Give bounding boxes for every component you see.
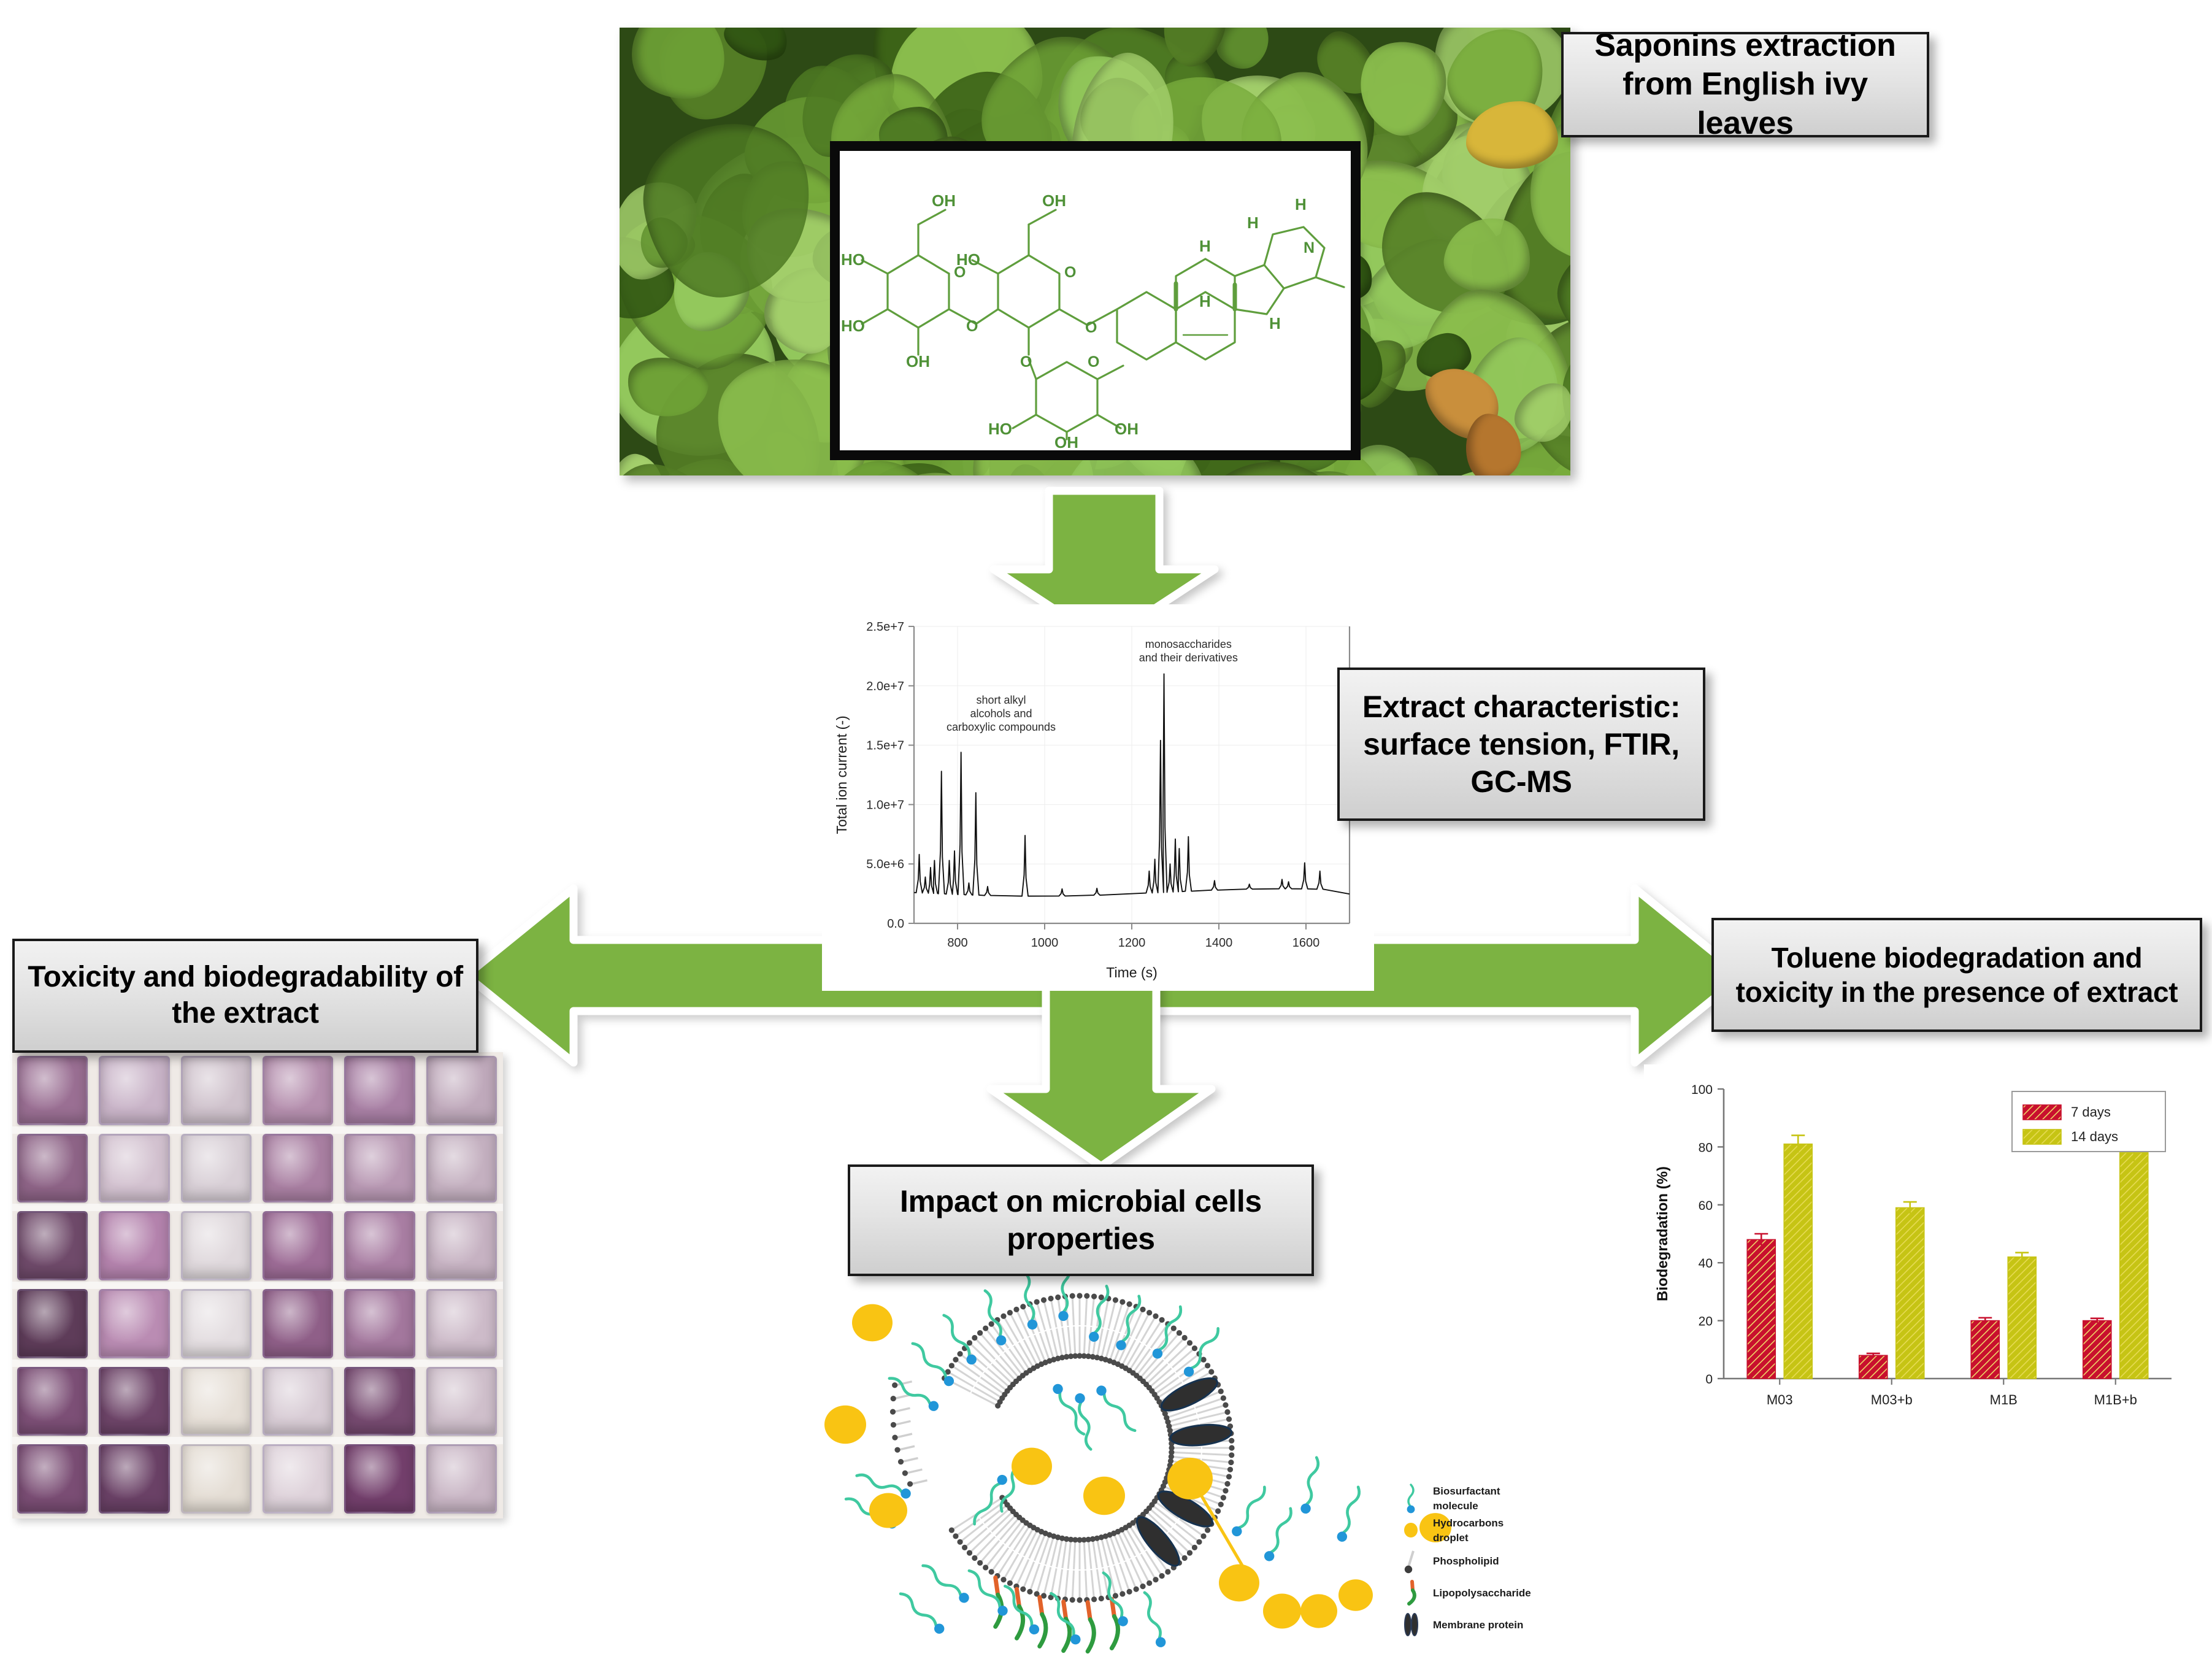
- gcms-y-tick-label: 5.0e+6: [866, 858, 904, 871]
- phospholipid-tail: [1058, 1569, 1062, 1599]
- phospholipid-head: [1226, 1474, 1232, 1479]
- bar-M03+b-7-days: [1859, 1355, 1887, 1379]
- legend-item-lps-icon: Lipopolysaccharide: [1409, 1582, 1531, 1604]
- phospholipid-head: [1000, 1314, 1006, 1319]
- hydrocarbon-droplet: [869, 1493, 907, 1528]
- microplate-well: [181, 1056, 252, 1125]
- bar-y-tick-label: 40: [1699, 1256, 1713, 1271]
- gcms-y-axis-label: Total ion current (-): [834, 715, 850, 834]
- phospholipid-head: [949, 1363, 954, 1368]
- gcms-x-axis-label: Time (s): [1106, 964, 1157, 980]
- hydrocarbon-droplet: [1167, 1458, 1213, 1499]
- saponin-structure-canvas: OH OH HO HO HO OH O O O O O O HO OH: [840, 151, 1351, 450]
- gcms-annotation-1: and their derivatives: [1139, 652, 1238, 664]
- phospholipid-head: [1134, 1587, 1139, 1592]
- phospholipid-head: [967, 1550, 972, 1556]
- phospholipid-head: [1165, 1569, 1170, 1574]
- bar-y-tick-label: 0: [1705, 1372, 1713, 1387]
- gcms-y-tick-label: 1.0e+7: [866, 798, 904, 812]
- phospholipid-tail: [1156, 1328, 1174, 1352]
- phospholipid-tail: [1172, 1528, 1194, 1547]
- legend-item-phospholipid-icon: Phospholipid: [1405, 1551, 1499, 1573]
- biosurfactant-molecule: [897, 1590, 947, 1636]
- plate-ridge: [12, 1282, 503, 1289]
- lipopolysaccharide: [1088, 1603, 1094, 1652]
- phospholipid-tail: [1086, 1571, 1087, 1600]
- phospholipid-head: [1070, 1293, 1075, 1299]
- phospholipid-head: [1119, 1591, 1125, 1596]
- phospholipid-tail: [1146, 1320, 1162, 1344]
- phospholipid-head: [1187, 1550, 1192, 1556]
- hydrocarbon-droplet: [1263, 1593, 1301, 1628]
- phospholipid-tail: [991, 1548, 1008, 1572]
- phospholipid-head: [1229, 1438, 1234, 1444]
- phospholipid-tail: [1084, 1326, 1085, 1356]
- biosurfactant-molecule: [1300, 1456, 1321, 1515]
- gcms-annotation-0: carboxylic compounds: [947, 721, 1056, 733]
- biosurfactant-molecule: [920, 1562, 971, 1605]
- microplate-well: [426, 1134, 497, 1203]
- legend-label: Membrane protein: [1433, 1619, 1523, 1631]
- microplate-well: [426, 1289, 497, 1358]
- phospholipid-head: [1221, 1495, 1226, 1501]
- phospholipid-tail: [1091, 1296, 1094, 1326]
- svg-text:HO: HO: [841, 317, 865, 335]
- disrupted-phospholipid: [894, 1395, 910, 1399]
- phospholipid-tail: [1074, 1326, 1075, 1356]
- legend-label: 14 days: [2071, 1129, 2118, 1144]
- svg-text:H: H: [1247, 214, 1259, 232]
- gcms-x-tick-label: 1200: [1118, 936, 1146, 950]
- phospholipid-head: [1229, 1445, 1234, 1450]
- bar-M03-7-days: [1747, 1239, 1775, 1379]
- phospholipid-head: [1013, 1307, 1019, 1312]
- phospholipid-head: [1055, 1295, 1061, 1300]
- phospholipid-head: [1224, 1481, 1230, 1487]
- microplate-well: [17, 1056, 88, 1125]
- membrane-diagram-svg: BiosurfactantmoleculeHydrocarbonsdroplet…: [816, 1264, 1570, 1669]
- phospholipid-tail: [1068, 1539, 1071, 1569]
- svg-text:OH: OH: [1054, 433, 1078, 450]
- microplate-well: [344, 1367, 415, 1436]
- phospholipid-tail: [1141, 1554, 1156, 1580]
- phospholipid-tail: [1062, 1539, 1067, 1568]
- phospholipid-head: [1020, 1304, 1026, 1309]
- phospholipid-head: [977, 1560, 983, 1566]
- gcms-annotation-0: alcohols and: [970, 707, 1032, 720]
- microplate-well: [263, 1056, 333, 1125]
- microplate-well: [99, 1211, 169, 1280]
- legend-item-membrane-protein-icon: Membrane protein: [1405, 1614, 1523, 1636]
- microplate-well: [344, 1056, 415, 1125]
- phospholipid-head: [1205, 1527, 1210, 1533]
- phospholipid-tail: [1202, 1454, 1232, 1455]
- plate-ridge: [12, 1437, 503, 1444]
- svg-text:H: H: [1199, 237, 1211, 255]
- phospholipid-tail: [1176, 1524, 1199, 1542]
- bar-y-tick-label: 20: [1699, 1315, 1713, 1329]
- phospholipid-head: [1077, 1597, 1082, 1603]
- phospholipid-head: [1000, 1577, 1006, 1582]
- phospholipid-tail: [986, 1544, 1004, 1568]
- phospholipid-head: [1196, 1539, 1202, 1545]
- phospholipid-tail: [1086, 1296, 1087, 1325]
- biosurfactant-molecule: [1262, 1506, 1295, 1563]
- phospholipid-head: [1200, 1533, 1206, 1539]
- biosurfactant-molecule: [887, 1374, 941, 1413]
- phospholipid-tail: [1172, 1349, 1194, 1368]
- toxicity-biodegradability-text: Toxicity and biodegradability of the ext…: [25, 960, 466, 1031]
- saponin-structure-svg: OH OH HO HO HO OH O O O O O O HO OH: [840, 151, 1351, 450]
- phospholipid-tail: [1172, 1452, 1201, 1453]
- biodegradation-bar-svg: 020406080100Biodegradation (%)M03M03+bM1…: [1644, 1064, 2184, 1445]
- phospholipid-tail: [1202, 1460, 1231, 1463]
- phospholipid-head: [1084, 1293, 1089, 1299]
- phospholipid-head: [1127, 1301, 1132, 1307]
- svg-text:HO: HO: [988, 420, 1012, 438]
- phospholipid-tail: [1160, 1333, 1179, 1355]
- phospholipid-head: [1119, 1299, 1125, 1304]
- bar-y-axis-label: Biodegradation (%): [1654, 1166, 1671, 1301]
- bar-category-label: M03: [1767, 1392, 1793, 1407]
- microplate-well: [17, 1134, 88, 1203]
- phospholipid-head: [962, 1545, 967, 1550]
- phospholipid-head: [1215, 1508, 1221, 1514]
- hydrocarbon-droplet: [1012, 1448, 1052, 1485]
- phospholipid-head: [1218, 1502, 1224, 1507]
- disrupted-phospholipid: [896, 1434, 912, 1437]
- phospholipid-head: [1007, 1580, 1013, 1586]
- phospholipid-tail: [951, 1514, 976, 1530]
- svg-text:O: O: [1085, 319, 1097, 336]
- disrupted-phospholipid-head: [890, 1409, 896, 1415]
- phospholipid-head: [957, 1351, 962, 1356]
- phospholipid-tail: [1074, 1540, 1075, 1569]
- microplate-well: [263, 1444, 333, 1514]
- phospholipid-tail: [1072, 1571, 1073, 1600]
- phospholipid-tail: [975, 1338, 995, 1360]
- svg-text:O: O: [1064, 264, 1076, 281]
- microplate-well: [99, 1134, 169, 1203]
- biosurfactant-molecule: [1051, 1382, 1088, 1437]
- bar-category-label: M03+b: [1871, 1392, 1913, 1407]
- microplate-well: [17, 1367, 88, 1436]
- phospholipid-head: [977, 1330, 983, 1336]
- phospholipid-tail: [1136, 1557, 1150, 1583]
- microtiter-plate-photo: [12, 1052, 503, 1518]
- phospholipid-head: [1208, 1369, 1214, 1374]
- disrupted-phospholipid-head: [891, 1396, 896, 1401]
- phospholipid-head: [989, 1569, 994, 1574]
- microplate-well: [263, 1134, 333, 1203]
- phospholipid-head: [1218, 1388, 1224, 1394]
- disrupted-phospholipid: [894, 1408, 910, 1412]
- lipopolysaccharide: [1112, 1599, 1118, 1648]
- impact-microbial-cells-callout: Impact on microbial cells properties: [848, 1164, 1314, 1276]
- phospholipid-head: [1041, 1297, 1046, 1303]
- microplate-well: [181, 1444, 252, 1514]
- phospholipid-head: [1153, 1577, 1158, 1582]
- svg-text:H: H: [1199, 292, 1211, 310]
- svg-text:OH: OH: [906, 352, 930, 371]
- phospholipid-head: [1223, 1403, 1228, 1408]
- phospholipid-tail: [1010, 1557, 1023, 1583]
- phospholipid-head: [972, 1335, 977, 1341]
- phospholipid-head: [1020, 1587, 1026, 1592]
- phospholipid-tail: [1010, 1313, 1023, 1339]
- phospholipid-tail: [997, 1551, 1013, 1576]
- phospholipid-tail: [1088, 1327, 1091, 1356]
- phospholipid-head: [1091, 1596, 1097, 1602]
- hydrocarbon-droplet: [852, 1304, 893, 1342]
- gcms-y-tick-label: 1.5e+7: [866, 739, 904, 753]
- hydrocarbon-droplet: [1338, 1579, 1373, 1611]
- plate-ridge: [12, 1204, 503, 1211]
- gcms-chromatogram: 0.05.0e+61.0e+71.5e+72.0e+72.5e+78001000…: [822, 604, 1374, 991]
- plate-ridge: [12, 1126, 503, 1134]
- microplate-well: [181, 1134, 252, 1203]
- microplate-well: [426, 1367, 497, 1436]
- phospholipid-head: [1127, 1589, 1132, 1595]
- microplate-well: [344, 1444, 415, 1514]
- biosurfactant-molecule: [1074, 1392, 1096, 1450]
- bar-y-tick-label: 100: [1691, 1083, 1713, 1097]
- phospholipid-head: [953, 1533, 958, 1539]
- microplate-well: [99, 1056, 169, 1125]
- phospholipid-tail: [1016, 1560, 1029, 1587]
- phospholipid-head: [1007, 1310, 1013, 1315]
- phospholipid-tail: [1091, 1570, 1094, 1599]
- bar-y-tick-label: 80: [1699, 1141, 1713, 1155]
- microplate-well: [263, 1367, 333, 1436]
- phospholipid-head: [983, 1325, 988, 1331]
- phospholipid-head: [1140, 1583, 1145, 1589]
- extract-characteristic-callout: Extract characteristic: surface tension,…: [1337, 668, 1705, 821]
- gcms-y-tick-label: 0.0: [887, 917, 904, 931]
- legend-swatch: [2023, 1129, 2061, 1144]
- bar-category-label: M1B: [1990, 1392, 2018, 1407]
- bar-y-tick-label: 60: [1699, 1199, 1713, 1213]
- disrupted-phospholipid: [912, 1480, 927, 1484]
- phospholipid-tail: [1199, 1412, 1227, 1419]
- bar-M1B-7-days: [1971, 1321, 1999, 1379]
- microbial-cell-membrane-diagram: BiosurfactantmoleculeHydrocarbonsdroplet…: [816, 1264, 1570, 1669]
- phospholipid-head: [1205, 1363, 1210, 1368]
- svg-text:O: O: [1088, 353, 1099, 371]
- microplate-well: [344, 1289, 415, 1358]
- bar-M03+b-14-days: [1896, 1208, 1924, 1379]
- disrupted-phospholipid: [894, 1421, 910, 1425]
- microplate-well: [344, 1134, 415, 1203]
- disrupted-phospholipid: [906, 1469, 922, 1473]
- microplate-well: [263, 1289, 333, 1358]
- disrupted-phospholipid-head: [898, 1459, 904, 1464]
- phospholipid-head: [1229, 1452, 1234, 1458]
- legend-item-droplet-icon: Hydrocarbonsdroplet: [1404, 1517, 1503, 1544]
- microplate-well: [99, 1289, 169, 1358]
- biosurfactant-molecule: [1140, 1591, 1167, 1649]
- microplate-well: [426, 1444, 497, 1514]
- legend-label: Phospholipid: [1433, 1555, 1499, 1567]
- disrupted-phospholipid-head: [907, 1481, 913, 1487]
- biosurfactant-molecule: [1094, 1383, 1139, 1434]
- gcms-x-tick-label: 1400: [1205, 936, 1233, 950]
- phospholipid-tail: [960, 1524, 983, 1542]
- legend-label: 7 days: [2071, 1104, 2111, 1120]
- phospholipid-head: [1091, 1294, 1097, 1299]
- legend-label: Biosurfactant: [1433, 1485, 1500, 1497]
- microplate-well: [17, 1444, 88, 1514]
- svg-text:H: H: [1295, 195, 1307, 214]
- hydrocarbon-droplet: [824, 1406, 866, 1444]
- phospholipid-tail: [1044, 1567, 1051, 1596]
- hydrocarbon-droplet: [1219, 1564, 1259, 1602]
- extract-characteristic-text: Extract characteristic: surface tension,…: [1350, 688, 1693, 801]
- toluene-biodegradation-barchart: 020406080100Biodegradation (%)M03M03+bM1…: [1644, 1064, 2184, 1445]
- svg-text:OH: OH: [1115, 420, 1139, 438]
- microplate-well: [99, 1367, 169, 1436]
- legend-label: droplet: [1433, 1532, 1469, 1544]
- phospholipid-tail: [1065, 1570, 1068, 1599]
- biosurfactant-molecule: [1230, 1485, 1269, 1539]
- phospholipid-tail: [1044, 1300, 1051, 1329]
- gcms-annotation-1: monosaccharides: [1145, 638, 1232, 650]
- biosurfactant-molecule: [966, 1568, 1010, 1618]
- phospholipid-tail: [1072, 1296, 1073, 1325]
- phospholipid-head: [1221, 1395, 1226, 1401]
- phospholipid-head: [1182, 1555, 1188, 1561]
- toluene-biodegradation-text: Toluene biodegradation and toxicity in t…: [1724, 941, 2190, 1009]
- phospholipid-tail: [1016, 1309, 1029, 1336]
- phospholipid-head: [1099, 1596, 1104, 1601]
- phospholipid-tail: [1062, 1328, 1067, 1357]
- disrupted-phospholipid-head: [894, 1447, 900, 1453]
- microplate-well: [263, 1211, 333, 1280]
- svg-text:O: O: [954, 264, 966, 281]
- phospholipid-head: [1227, 1467, 1233, 1472]
- microplate-well: [344, 1211, 415, 1280]
- hydrocarbon-droplet: [1083, 1477, 1125, 1515]
- phospholipid-tail: [1141, 1316, 1156, 1342]
- svg-text:OH: OH: [1042, 191, 1066, 210]
- phospholipid-head: [1027, 1589, 1032, 1595]
- phospholipid-tail: [1131, 1560, 1143, 1587]
- phospholipid-tail: [1103, 1298, 1108, 1327]
- phospholipid-head: [1192, 1345, 1197, 1351]
- phospholipid-head: [1159, 1317, 1164, 1323]
- lipopolysaccharide: [1040, 1597, 1046, 1646]
- phospholipid-head: [957, 1539, 962, 1545]
- gcms-y-tick-label: 2.0e+7: [866, 680, 904, 693]
- microplate-well: [181, 1289, 252, 1358]
- phospholipid-tail: [1136, 1313, 1150, 1339]
- disrupted-phospholipid-head: [892, 1382, 897, 1388]
- phospholipid-tail: [975, 1537, 995, 1558]
- phospholipid-head: [1077, 1293, 1082, 1298]
- bar-M1B-14-days: [2008, 1257, 2036, 1379]
- svg-text:OH: OH: [932, 191, 956, 210]
- phospholipid-tail: [1051, 1298, 1056, 1327]
- phospholipid-head: [1146, 1310, 1152, 1315]
- legend-label: Lipopolysaccharide: [1433, 1587, 1531, 1599]
- svg-text:O: O: [1020, 353, 1032, 371]
- phospholipid-tail: [1097, 1569, 1101, 1599]
- saponins-extraction-text: Saponins extraction from English ivy lea…: [1573, 26, 1917, 143]
- phospholipid-head: [1223, 1488, 1228, 1493]
- biosurfactant-molecule: [1336, 1485, 1363, 1543]
- toxicity-biodegradability-callout: Toxicity and biodegradability of the ext…: [12, 939, 478, 1053]
- phospholipid-head: [972, 1555, 977, 1561]
- phospholipid-head: [1159, 1573, 1164, 1579]
- svg-text:N: N: [1304, 239, 1315, 256]
- legend-item-surfactant-icon: Biosurfactantmolecule: [1407, 1485, 1500, 1513]
- phospholipid-tail: [980, 1541, 999, 1563]
- phospholipid-tail: [1088, 1539, 1091, 1569]
- impact-microbial-cells-text: Impact on microbial cells properties: [860, 1183, 1302, 1258]
- phospholipid-head: [1224, 1409, 1230, 1415]
- phospholipid-tail: [1114, 1533, 1125, 1561]
- phospholipid-tail: [965, 1528, 987, 1547]
- disrupted-phospholipid-head: [891, 1422, 896, 1428]
- phospholipid-tail: [1034, 1335, 1045, 1363]
- phospholipid-head: [1182, 1335, 1188, 1341]
- saponins-extraction-callout: Saponins extraction from English ivy lea…: [1561, 32, 1929, 137]
- microplate-well: [426, 1211, 497, 1280]
- disrupted-phospholipid-head: [892, 1434, 897, 1440]
- phospholipid-head: [1113, 1297, 1118, 1303]
- phospholipid-head: [1177, 1330, 1182, 1336]
- phospholipid-tail: [951, 1366, 976, 1382]
- phospholipid-head: [983, 1564, 988, 1570]
- phospholipid-tail: [1034, 1533, 1045, 1561]
- legend-swatch: [2023, 1105, 2061, 1120]
- legend-label: Hydrocarbons: [1433, 1517, 1503, 1529]
- lipopolysaccharide: [1064, 1602, 1070, 1651]
- phospholipid-tail: [1169, 1343, 1190, 1363]
- phospholipid-head: [1228, 1460, 1234, 1465]
- phospholipid-head: [1034, 1299, 1040, 1304]
- bar-M1B+b-7-days: [2083, 1321, 2111, 1379]
- phospholipid-tail: [1200, 1419, 1229, 1425]
- phospholipid-head: [1171, 1325, 1177, 1331]
- toluene-biodegradation-callout: Toluene biodegradation and toxicity in t…: [1711, 918, 2202, 1032]
- bar-category-label: M1B+b: [2094, 1392, 2137, 1407]
- disrupted-phospholipid-head: [902, 1471, 908, 1476]
- phospholipid-head: [1048, 1296, 1053, 1301]
- disrupted-phospholipid: [899, 1446, 915, 1450]
- svg-text:O: O: [966, 318, 978, 335]
- disrupted-phospholipid: [902, 1458, 918, 1462]
- phospholipid-head: [1140, 1307, 1145, 1312]
- microplate-well: [17, 1211, 88, 1280]
- phospholipid-head: [1146, 1580, 1152, 1586]
- phospholipid-head: [1153, 1314, 1158, 1319]
- microplate-well: [181, 1211, 252, 1280]
- phospholipid-head: [967, 1340, 972, 1345]
- gcms-annotation-0: short alkyl: [976, 694, 1026, 706]
- plate-ridge: [12, 1360, 503, 1367]
- gcms-x-tick-label: 800: [947, 936, 967, 950]
- phospholipid-tail: [1068, 1327, 1071, 1356]
- gcms-chromatogram-svg: 0.05.0e+61.0e+71.5e+72.0e+72.5e+78001000…: [822, 604, 1374, 991]
- biosurfactant-molecule: [909, 1340, 956, 1388]
- phospholipid-tail: [970, 1533, 991, 1553]
- gcms-y-tick-label: 2.5e+7: [866, 620, 904, 634]
- phospholipid-head: [953, 1357, 958, 1363]
- svg-text:H: H: [1269, 314, 1281, 333]
- phospholipid-head: [1070, 1597, 1075, 1603]
- phospholipid-tail: [1093, 1539, 1097, 1568]
